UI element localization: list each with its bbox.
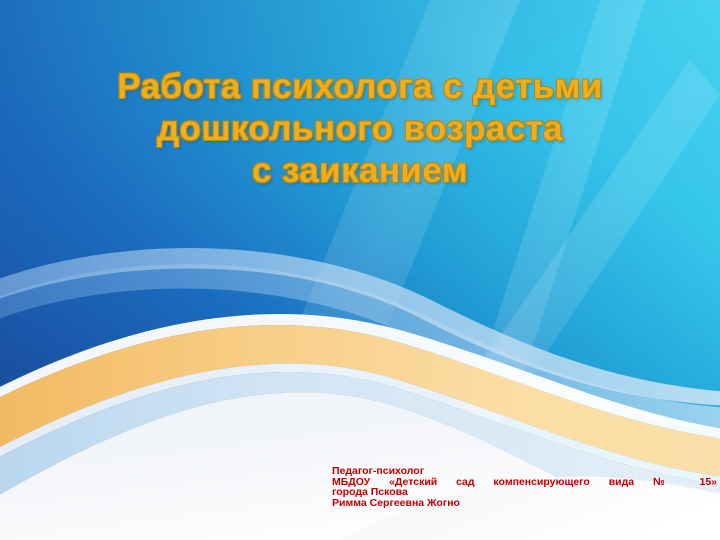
credit-author-name: Римма Сергеевна Жогно <box>332 498 717 510</box>
author-credits: Педагог-психолог МБДОУ «Детский сад комп… <box>332 466 717 509</box>
presentation-slide: Работа психолога с детьми дошкольного во… <box>0 0 720 540</box>
slide-background-graphic <box>0 0 720 540</box>
